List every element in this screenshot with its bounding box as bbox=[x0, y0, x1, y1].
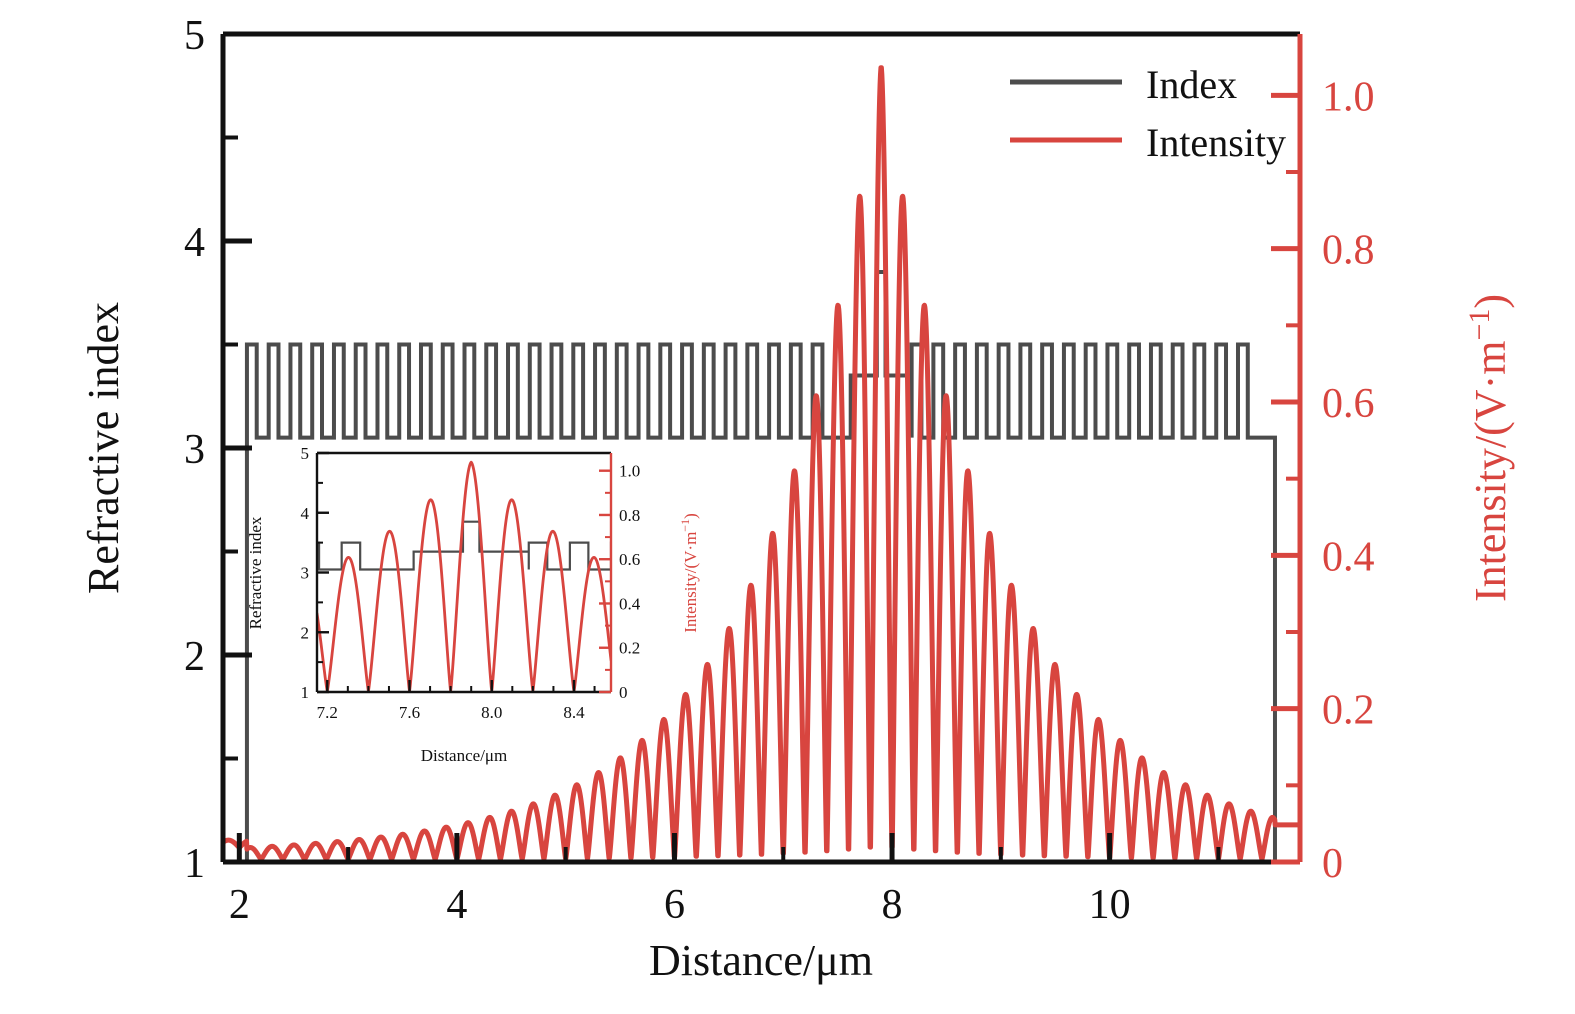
y-left-tick-label: 1 bbox=[184, 841, 205, 887]
y-right-tick-label: 0.8 bbox=[1322, 228, 1375, 274]
inset-y-right-tick-label: 0.8 bbox=[619, 506, 640, 525]
y-axis-left-title: Refractive index bbox=[79, 302, 128, 594]
inset-y-left-tick-label: 1 bbox=[301, 683, 310, 702]
inset-y-right-tick-label: 0.6 bbox=[619, 550, 640, 569]
x-tick-label: 4 bbox=[446, 882, 467, 928]
legend-label-intensity: Intensity bbox=[1146, 120, 1286, 165]
y-left-tick-label: 4 bbox=[184, 220, 205, 266]
inset-x-axis-title: Distance/μm bbox=[421, 746, 508, 765]
y-right-tick-label: 0.4 bbox=[1322, 534, 1375, 580]
inset-x-tick-label: 8.0 bbox=[481, 703, 502, 722]
y-right-tick-label: 1.0 bbox=[1322, 74, 1375, 120]
inset-x-tick-label: 8.4 bbox=[563, 703, 585, 722]
y-left-tick-label: 2 bbox=[184, 634, 205, 680]
inset-y-left-tick-label: 2 bbox=[301, 623, 310, 642]
x-tick-label: 2 bbox=[229, 882, 250, 928]
inset-y-right-tick-label: 0.2 bbox=[619, 639, 640, 658]
y-right-tick-label: 0.2 bbox=[1322, 688, 1375, 734]
legend-label-index: Index bbox=[1146, 62, 1237, 107]
inset-y-left-tick-label: 4 bbox=[301, 504, 310, 523]
x-tick-label: 6 bbox=[664, 882, 685, 928]
inset-y-left-tick-label: 5 bbox=[301, 444, 310, 463]
inset-y-axis-left-title: Refractive index bbox=[246, 516, 265, 629]
inset-y-right-tick-label: 0.4 bbox=[619, 594, 641, 613]
x-tick-label: 10 bbox=[1089, 882, 1131, 928]
figure-root: 2468101234500.20.40.60.81.0 Refractive i… bbox=[0, 0, 1575, 1014]
inset-x-tick-label: 7.6 bbox=[399, 703, 420, 722]
inset-background bbox=[317, 453, 611, 692]
y-right-tick-label: 0.6 bbox=[1322, 381, 1375, 427]
inset-x-tick-label: 7.2 bbox=[317, 703, 338, 722]
inset-y-right-tick-label: 1.0 bbox=[619, 462, 640, 481]
inset-y-left-tick-label: 3 bbox=[301, 564, 310, 583]
x-axis-title: Distance/μm bbox=[649, 936, 873, 985]
y-left-tick-label: 3 bbox=[184, 427, 205, 473]
main-chart: 2468101234500.20.40.60.81.0 Refractive i… bbox=[0, 0, 1575, 1014]
x-tick-label: 8 bbox=[882, 882, 903, 928]
inset-y-right-tick-label: 0 bbox=[619, 683, 628, 702]
y-right-tick-label: 0 bbox=[1322, 841, 1343, 887]
y-left-tick-label: 5 bbox=[184, 13, 205, 59]
